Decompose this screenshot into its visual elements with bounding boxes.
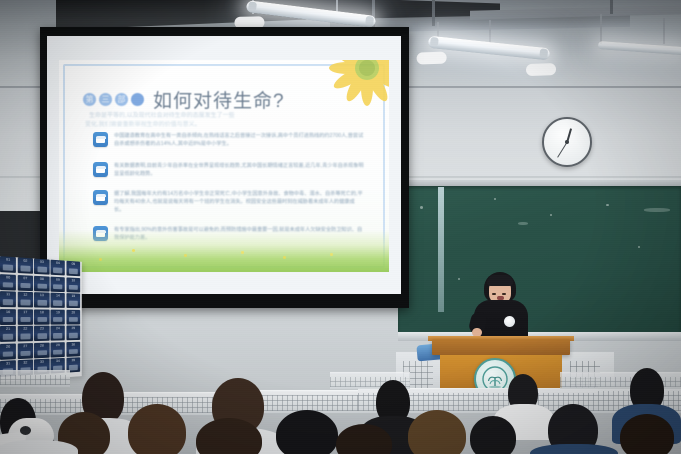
- pocket: 10: [66, 277, 80, 292]
- slide-bullet-3: 据了解,我国每年大约有14万名中小学生非正常死亡,中小学生因意外身故、食物中毒、…: [93, 190, 364, 215]
- phone-pocket-chart: 01 02 03 04 05 06 07 08 09 10 11 12 13 1…: [0, 256, 82, 382]
- pocket-row: 06 07 08 09 10: [0, 274, 82, 293]
- pocket-row: 16 17 18 19 20: [0, 309, 82, 325]
- pocket: 11: [0, 291, 16, 307]
- title-badge-2: 三: [99, 93, 112, 106]
- podium-desk: [432, 339, 570, 355]
- cap-logo-icon: [20, 426, 31, 435]
- lamp-rod: [663, 18, 665, 44]
- wall-clock: [542, 117, 592, 167]
- pocket: 30: [66, 341, 80, 356]
- pocket: 06: [0, 274, 16, 290]
- slide-bullet-2-text: 有关数据表明,目前青少年自杀率在全世界呈现增长趋势,尤其中国长期情绪正言较差,近…: [114, 162, 364, 178]
- slide-bullet-1-text: 中国建造教育在高中生有一类自杀倾向,在热线话言之后曾接过一次接诉,高中个员打进热…: [114, 132, 364, 148]
- audience-head: [620, 414, 674, 454]
- audience-head: [276, 410, 338, 454]
- projection-screen: 第 三 部 如何对待生命? 生命是平等的,以及现代社会对待生命的态度发生了一些 …: [47, 36, 401, 294]
- pocket: 24: [51, 325, 65, 340]
- slide-bullet-1: 中国建造教育在高中生有一类自杀倾向,在热线话言之后曾接过一次接诉,高中个员打进热…: [93, 132, 364, 148]
- ceiling-pipe: [610, 0, 613, 14]
- slide-subtitle-line-1: 生命是平等的,以及现代社会对待生命的态度发生了一些: [89, 112, 359, 121]
- pocket: 27: [17, 343, 33, 359]
- audience-head: [128, 404, 186, 454]
- pocket: 16: [0, 309, 16, 325]
- pocket: 01: [0, 256, 16, 273]
- pocket: 29: [51, 342, 65, 357]
- lamp-rod: [489, 20, 491, 44]
- envelope-icon: [93, 162, 108, 177]
- slide-subtitle-line-2: 变化,我们需要重新审视生命的价值与意义。: [85, 121, 355, 130]
- title-badge-1: 第: [83, 93, 96, 106]
- slide-title: 如何对待生命?: [153, 86, 285, 113]
- pocket: 07: [17, 274, 33, 290]
- bench-row-back: [0, 370, 70, 387]
- clock-center: [565, 140, 569, 144]
- pocket-row: 21 22 23 24 25: [0, 325, 82, 342]
- audience-head: [408, 410, 466, 454]
- pocket: 09: [51, 276, 65, 292]
- pocket: 13: [34, 292, 49, 308]
- presentation-slide: 第 三 部 如何对待生命? 生命是平等的,以及现代社会对待生命的态度发生了一些 …: [59, 60, 389, 272]
- lamp-rod: [600, 14, 602, 44]
- pocket: 25: [66, 325, 80, 340]
- pocket-row: 11 12 13 14 15: [0, 291, 82, 308]
- slide-bullet-2: 有关数据表明,目前青少年自杀率在全世界呈现增长趋势,尤其中国长期情绪正言较差,近…: [93, 162, 364, 178]
- slide-bullet-3-text: 据了解,我国每年大约有14万名中小学生非正常死亡,中小学生因意外身故、食物中毒、…: [114, 190, 364, 215]
- title-badge-4: [131, 93, 144, 106]
- presenter: [470, 272, 530, 344]
- pocket: 14: [51, 293, 65, 308]
- audience-shoulders: [0, 440, 78, 454]
- pocket: 02: [17, 257, 33, 273]
- pocket: 28: [34, 342, 49, 358]
- clock-minute-hand: [557, 142, 568, 158]
- chalkboard-light-strip: [438, 187, 444, 312]
- pocket: 17: [17, 309, 33, 325]
- meadow-photo: [59, 230, 389, 272]
- pocket: 04: [51, 260, 65, 276]
- presenter-badge: [504, 316, 515, 327]
- pocket: 21: [0, 326, 16, 342]
- pocket: 03: [34, 259, 49, 275]
- slide-title-row: 第 三 部 如何对待生命?: [83, 86, 285, 113]
- pocket: 22: [17, 326, 33, 342]
- presenter-fringe: [487, 275, 513, 286]
- pocket: 12: [17, 292, 33, 308]
- projection-screen-top-bar: [40, 27, 409, 34]
- pocket: 19: [51, 309, 65, 324]
- envelope-icon: [93, 132, 108, 147]
- pocket: 05: [66, 261, 80, 277]
- ceiling-pipe: [432, 0, 435, 26]
- pocket: 20: [66, 309, 80, 324]
- pocket: 26: [0, 343, 16, 359]
- pocket: 15: [66, 293, 80, 308]
- pocket: 18: [34, 309, 49, 324]
- audience-shoulders: [530, 444, 618, 454]
- pocket: 23: [34, 326, 49, 341]
- envelope-icon: [93, 190, 108, 205]
- pocket: 08: [34, 275, 49, 291]
- audience-head: [470, 416, 516, 454]
- classroom-scene: 第 三 部 如何对待生命? 生命是平等的,以及现代社会对待生命的态度发生了一些 …: [0, 0, 681, 454]
- title-badge-3: 部: [115, 93, 128, 106]
